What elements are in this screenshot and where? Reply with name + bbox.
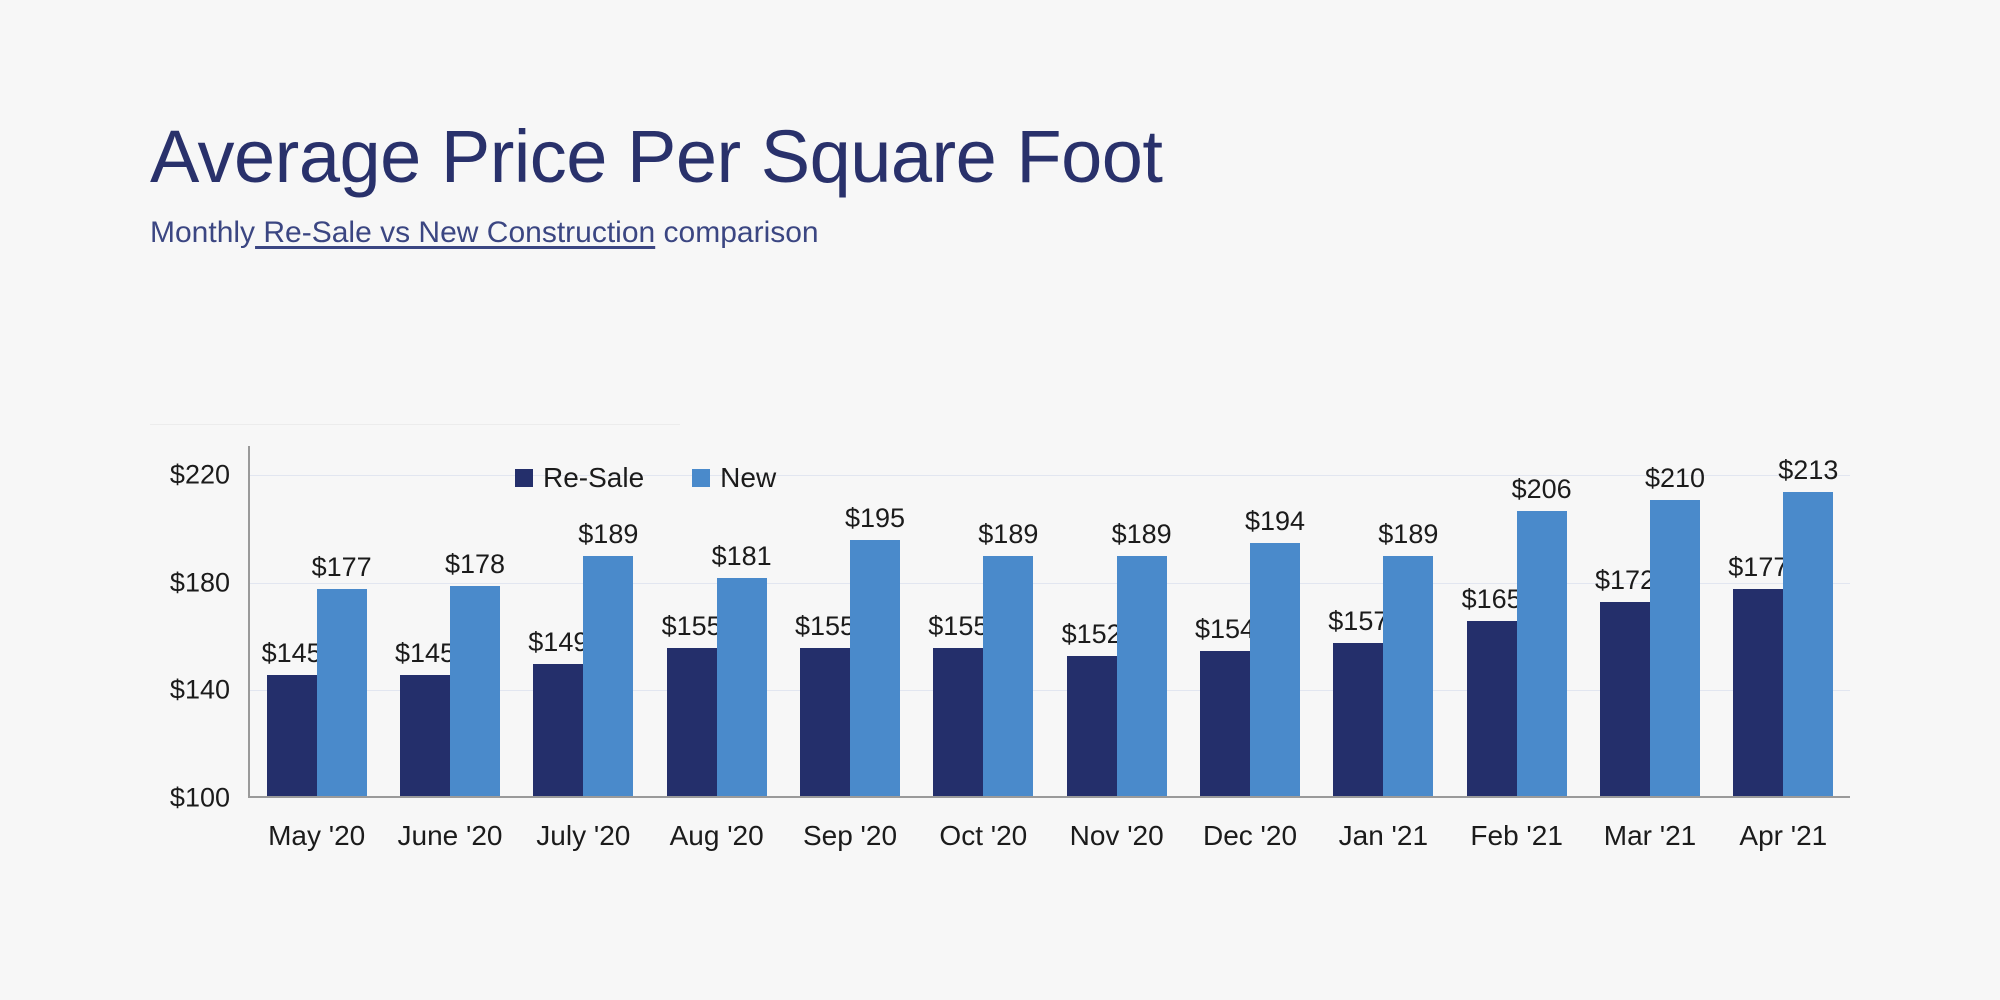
- x-axis-tick-label: Oct '20: [939, 820, 1027, 852]
- bar-value-label: $195: [845, 503, 905, 534]
- x-axis-tick-label: Nov '20: [1070, 820, 1164, 852]
- bar-group: $154$194: [1200, 446, 1300, 796]
- legend-item-resale[interactable]: Re-Sale: [515, 462, 644, 494]
- bar-group: $155$189: [933, 446, 1033, 796]
- x-axis-tick-label: Dec '20: [1203, 820, 1297, 852]
- bar-value-label: $189: [1378, 519, 1438, 550]
- bar-re-sale[interactable]: [800, 648, 850, 796]
- bar-re-sale[interactable]: [267, 675, 317, 796]
- bar-group: $149$189: [533, 446, 633, 796]
- x-axis-tick-label: Jan '21: [1339, 820, 1428, 852]
- y-axis-tick-label: $140: [138, 675, 230, 706]
- bar-new[interactable]: [1383, 556, 1433, 796]
- bar-value-label: $213: [1778, 455, 1838, 486]
- x-axis-tick-label: Apr '21: [1739, 820, 1827, 852]
- bar-value-label: $206: [1512, 474, 1572, 505]
- bar-value-label: $145: [262, 638, 322, 669]
- bar-value-label: $145: [395, 638, 455, 669]
- legend-swatch-new: [692, 469, 710, 487]
- bar-value-label: $155: [662, 611, 722, 642]
- bar-group: $155$181: [667, 446, 767, 796]
- x-axis-tick-label: Aug '20: [670, 820, 764, 852]
- bar-group: $165$206: [1467, 446, 1567, 796]
- bar-value-label: $178: [445, 549, 505, 580]
- plot-top-hairline: [150, 424, 680, 425]
- bar-re-sale[interactable]: [667, 648, 717, 796]
- chart-header: Average Price Per Square Foot Monthly Re…: [150, 120, 1850, 250]
- page-title: Average Price Per Square Foot: [150, 120, 1850, 194]
- bar-new[interactable]: [850, 540, 900, 796]
- bar-group: $152$189: [1067, 446, 1167, 796]
- x-axis-tick-labels: May '20June '20July '20Aug '20Sep '20Oct…: [248, 820, 1850, 870]
- slide-canvas: Average Price Per Square Foot Monthly Re…: [0, 0, 2000, 1000]
- y-axis-tick-label: $220: [138, 459, 230, 490]
- bar-value-label: $155: [928, 611, 988, 642]
- y-axis-tick-label: $180: [138, 567, 230, 598]
- subtitle-underlined-segment: Re-Sale vs New Construction: [255, 216, 655, 249]
- bar-re-sale[interactable]: [1067, 656, 1117, 796]
- bar-value-label: $181: [712, 541, 772, 572]
- legend-swatch-resale: [515, 469, 533, 487]
- bar-value-label: $157: [1328, 606, 1388, 637]
- x-axis-tick-label: Feb '21: [1470, 820, 1563, 852]
- bar-re-sale[interactable]: [1333, 643, 1383, 796]
- legend-label-resale: Re-Sale: [543, 462, 644, 494]
- bar-value-label: $172: [1595, 565, 1655, 596]
- bar-value-label: $149: [528, 627, 588, 658]
- bar-value-label: $189: [578, 519, 638, 550]
- bar-re-sale[interactable]: [933, 648, 983, 796]
- x-axis-tick-label: July '20: [536, 820, 630, 852]
- bar-re-sale[interactable]: [533, 664, 583, 796]
- subtitle-suffix: comparison: [655, 216, 818, 249]
- chart-subtitle: Monthly Re-Sale vs New Construction comp…: [150, 216, 1850, 250]
- bar-group: $177$213: [1733, 446, 1833, 796]
- chart-plot-frame: $100$140$180$220 $145$177$145$178$149$18…: [150, 424, 1850, 804]
- subtitle-prefix: Monthly: [150, 216, 255, 249]
- bar-re-sale[interactable]: [1467, 621, 1517, 796]
- bar-re-sale[interactable]: [1200, 651, 1250, 796]
- x-axis-tick-label: Mar '21: [1604, 820, 1697, 852]
- bar-group: $172$210: [1600, 446, 1700, 796]
- bar-value-label: $189: [978, 519, 1038, 550]
- bar-value-label: $210: [1645, 463, 1705, 494]
- bar-new[interactable]: [1117, 556, 1167, 796]
- bar-new[interactable]: [1250, 543, 1300, 796]
- bar-re-sale[interactable]: [1600, 602, 1650, 796]
- bar-value-label: $177: [1728, 552, 1788, 583]
- bar-value-label: $189: [1112, 519, 1172, 550]
- bar-value-label: $194: [1245, 506, 1305, 537]
- bar-value-label: $154: [1195, 614, 1255, 645]
- bar-new[interactable]: [317, 589, 367, 796]
- bar-re-sale[interactable]: [400, 675, 450, 796]
- legend-item-new[interactable]: New: [692, 462, 776, 494]
- x-axis-tick-label: June '20: [398, 820, 503, 852]
- bar-new[interactable]: [450, 586, 500, 796]
- bar-group: $155$195: [800, 446, 900, 796]
- bar-re-sale[interactable]: [1733, 589, 1783, 796]
- bar-new[interactable]: [717, 578, 767, 796]
- bar-group: $145$177: [267, 446, 367, 796]
- bar-value-label: $152: [1062, 619, 1122, 650]
- bar-group: $157$189: [1333, 446, 1433, 796]
- x-axis-tick-label: May '20: [268, 820, 365, 852]
- y-axis-tick-label: $100: [138, 783, 230, 814]
- bar-new[interactable]: [583, 556, 633, 796]
- chart-legend: Re-Sale New: [515, 462, 776, 494]
- bar-series-container: $145$177$145$178$149$189$155$181$155$195…: [250, 446, 1850, 796]
- bar-new[interactable]: [1783, 492, 1833, 796]
- bar-group: $145$178: [400, 446, 500, 796]
- bar-value-label: $155: [795, 611, 855, 642]
- bar-value-label: $165: [1462, 584, 1522, 615]
- x-axis-line: [248, 796, 1850, 798]
- bar-new[interactable]: [1517, 511, 1567, 796]
- x-axis-tick-label: Sep '20: [803, 820, 897, 852]
- legend-label-new: New: [720, 462, 776, 494]
- bar-value-label: $177: [312, 552, 372, 583]
- bar-new[interactable]: [1650, 500, 1700, 796]
- bar-new[interactable]: [983, 556, 1033, 796]
- plot-area: $100$140$180$220 $145$177$145$178$149$18…: [248, 446, 1850, 798]
